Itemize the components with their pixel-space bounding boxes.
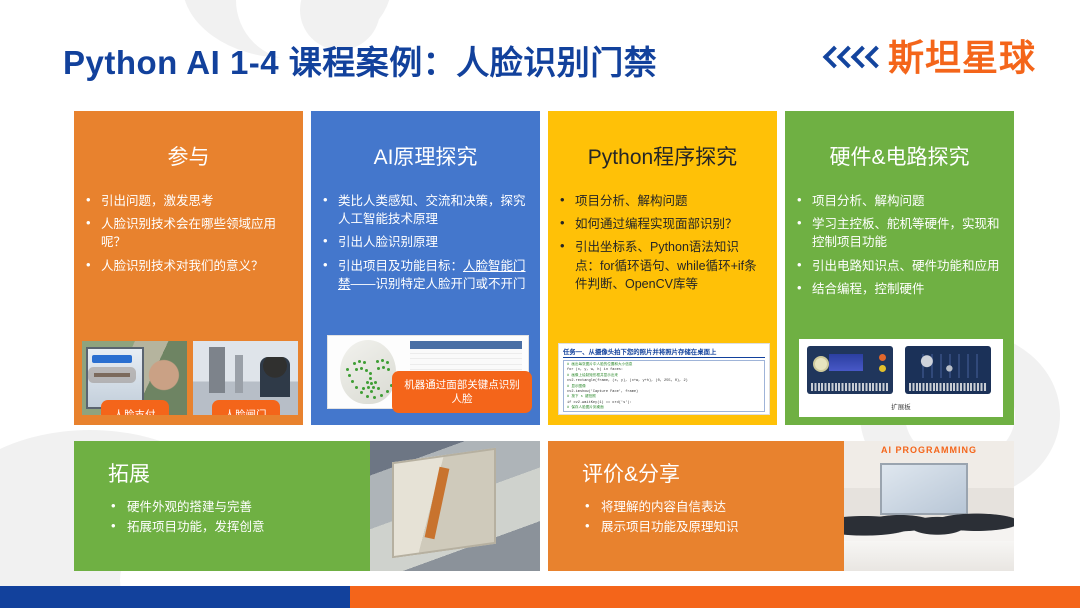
card-bullet-list: 将理解的内容自信表达 展示项目功能及原理知识 — [582, 497, 739, 537]
cards-row-top: 参与 引出问题，激发思考 人脸识别技术会在哪些领域应用呢？ 人脸识别技术对我们的… — [74, 111, 1014, 425]
photo-banner-text: AI PROGRAMMING — [844, 445, 1014, 455]
brand-logo: 斯坦星球 — [824, 40, 1036, 76]
figure-hardware-boards: 扩展板 — [799, 339, 1003, 417]
figure-caption: 机器通过面部关键点识别人脸 — [392, 371, 532, 413]
chevron-left-icon — [852, 46, 865, 70]
card-bullet-list: 硬件外观的搭建与完善 拓展项目功能，发挥创意 — [108, 497, 265, 537]
card-title: 硬件&电路探究 — [785, 111, 1014, 170]
pin-header — [909, 383, 987, 391]
list-item: 类比人类感知、交流和决策，探究人工智能技术原理 — [321, 192, 526, 228]
board-back — [905, 346, 991, 394]
button-yellow-icon — [879, 365, 886, 372]
list-item: 人脸识别技术对我们的意义？ — [84, 257, 289, 275]
card-title: 参与 — [74, 111, 303, 170]
photo-laser-cut-model — [370, 441, 540, 571]
footer-bar-blue — [0, 586, 350, 608]
slide-header: Python AI 1-4 课程案例：人脸识别门禁 斯坦星球 — [0, 0, 1080, 104]
card-title: 评价&分享 — [582, 458, 680, 488]
code-screenshot: 任务一、从摄像头拍下您的照片并将照片存储在桌面上 # 画出每张图片中人脸的位置和… — [558, 343, 770, 415]
code-body: # 画出每张图片中人脸的位置和大小信息 for (x, y, w, h) in … — [563, 360, 765, 412]
photo-label: 人脸闸门 — [212, 400, 280, 415]
photo-label: 人脸支付 — [101, 400, 169, 415]
code-task-title: 任务一、从摄像头拍下您的照片并将照片存储在桌面上 — [563, 347, 765, 358]
page-title: Python AI 1-4 课程案例：人脸识别门禁 — [63, 36, 657, 84]
photo-desk — [844, 541, 1014, 571]
list-item: 学习主控板、舵机等硬件，实现和控制项目功能 — [795, 215, 1000, 251]
photo-face-gate: 人脸闸门 — [193, 341, 298, 415]
logo-chevrons — [824, 46, 879, 70]
card-bullet-list: 项目分析、解构问题 如何通过编程实现面部识别？ 引出坐标系、Python语法知识… — [548, 170, 777, 293]
list-item: 项目分析、解构问题 — [795, 192, 1000, 210]
list-item: 展示项目功能及原理知识 — [582, 517, 739, 537]
card-extend[interactable]: 拓展 硬件外观的搭建与完善 拓展项目功能，发挥创意 — [74, 441, 540, 571]
chevron-left-icon — [866, 46, 879, 70]
footer-bar-orange — [350, 586, 1080, 608]
list-item: 如何通过编程实现面部识别？ — [558, 215, 763, 233]
slide-root: Python AI 1-4 课程案例：人脸识别门禁 斯坦星球 参与 引出问题，激… — [0, 0, 1080, 608]
chevron-left-icon — [838, 46, 851, 70]
card-photo-row: 人脸支付 人脸闸门 — [82, 341, 298, 415]
card-title: 拓展 — [108, 458, 150, 488]
card-bullet-list: 引出问题，激发思考 人脸识别技术会在哪些领域应用呢？ 人脸识别技术对我们的意义？ — [74, 170, 303, 275]
list-item: 引出问题，激发思考 — [84, 192, 289, 210]
list-item: 引出坐标系、Python语法知识点：for循环语句、while循环+if条件判断… — [558, 238, 763, 292]
logo-text: 斯坦星球 — [888, 40, 1036, 76]
chips-area — [915, 354, 981, 378]
card-bullet-list: 类比人类感知、交流和决策，探究人工智能技术原理 引出人脸识别原理 引出项目及功能… — [311, 170, 540, 293]
card-python-program[interactable]: Python程序探究 项目分析、解构问题 如何通过编程实现面部识别？ 引出坐标系… — [548, 111, 777, 425]
card-title: AI原理探究 — [311, 111, 540, 170]
card-hardware-circuit[interactable]: 硬件&电路探究 项目分析、解构问题 学习主控板、舵机等硬件，实现和控制项目功能 … — [785, 111, 1014, 425]
list-item: 引出项目及功能目标：人脸智能门禁——识别特定人脸开门或不开门 — [321, 257, 526, 293]
list-item: 项目分析、解构问题 — [558, 192, 763, 210]
pin-header — [811, 383, 889, 391]
board-front — [807, 346, 893, 394]
knob-icon — [813, 356, 829, 372]
footer-bar — [0, 586, 1080, 608]
board-caption: 扩展板 — [799, 401, 1003, 411]
list-item: 拓展项目功能，发挥创意 — [108, 517, 265, 537]
card-title: Python程序探究 — [548, 111, 777, 170]
photo-face-payment: 人脸支付 — [82, 341, 187, 415]
cards-row-bottom: 拓展 硬件外观的搭建与完善 拓展项目功能，发挥创意 评价&分享 将理解的内容自信… — [74, 441, 1014, 571]
chevron-left-icon — [824, 46, 837, 70]
list-item: 将理解的内容自信表达 — [582, 497, 739, 517]
list-item: 硬件外观的搭建与完善 — [108, 497, 265, 517]
oled-screen — [829, 354, 863, 371]
button-orange-icon — [879, 354, 886, 361]
photo-classroom: AI PROGRAMMING — [844, 441, 1014, 571]
card-participate[interactable]: 参与 引出问题，激发思考 人脸识别技术会在哪些领域应用呢？ 人脸识别技术对我们的… — [74, 111, 303, 425]
list-item: 引出电路知识点、硬件功能和应用 — [795, 257, 1000, 275]
card-evaluate-share[interactable]: 评价&分享 将理解的内容自信表达 展示项目功能及原理知识 AI PROGRAMM… — [548, 441, 1014, 571]
list-item: 引出人脸识别原理 — [321, 233, 526, 251]
card-bullet-list: 项目分析、解构问题 学习主控板、舵机等硬件，实现和控制项目功能 引出电路知识点、… — [785, 170, 1014, 298]
face-landmark-dots — [340, 340, 396, 404]
list-item: 人脸识别技术会在哪些领域应用呢？ — [84, 215, 289, 251]
list-item: 结合编程，控制硬件 — [795, 280, 1000, 298]
card-ai-principles[interactable]: AI原理探究 类比人类感知、交流和决策，探究人工智能技术原理 引出人脸识别原理 … — [311, 111, 540, 425]
